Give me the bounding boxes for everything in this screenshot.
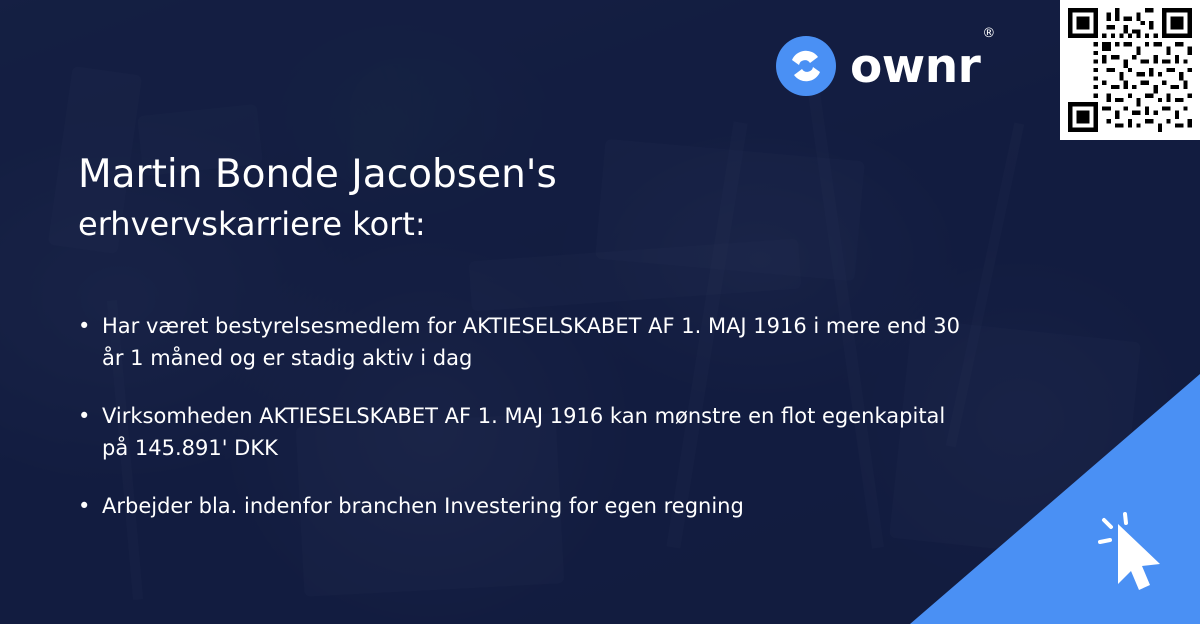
title-line-1: Martin Bonde Jacobsen's bbox=[78, 150, 898, 200]
page-title: Martin Bonde Jacobsen's erhvervskarriere… bbox=[78, 150, 898, 248]
qr-code-icon[interactable] bbox=[1068, 8, 1192, 132]
bullet-text: Har været bestyrelsesmedlem for AKTIESEL… bbox=[102, 310, 978, 374]
click-cursor-icon bbox=[1094, 510, 1170, 596]
bullet-list: • Har været bestyrelsesmedlem for AKTIES… bbox=[78, 310, 978, 548]
promo-card: ownr® bbox=[0, 0, 1200, 624]
circle-swirl-icon bbox=[776, 36, 836, 96]
list-item: • Arbejder bla. indenfor branchen Invest… bbox=[78, 490, 978, 522]
bullet-marker-icon: • bbox=[78, 310, 102, 342]
qr-code-panel[interactable] bbox=[1060, 0, 1200, 140]
bullet-text: Virksomheden AKTIESELSKABET AF 1. MAJ 19… bbox=[102, 400, 978, 464]
bullet-marker-icon: • bbox=[78, 400, 102, 432]
brand-logo: ownr® bbox=[776, 36, 993, 96]
list-item: • Virksomheden AKTIESELSKABET AF 1. MAJ … bbox=[78, 400, 978, 464]
bullet-text: Arbejder bla. indenfor branchen Invester… bbox=[102, 490, 744, 522]
brand-wordmark: ownr® bbox=[850, 43, 993, 90]
brand-name: ownr bbox=[850, 39, 980, 94]
list-item: • Har været bestyrelsesmedlem for AKTIES… bbox=[78, 310, 978, 374]
bullet-marker-icon: • bbox=[78, 490, 102, 522]
title-line-2: erhvervskarriere kort: bbox=[78, 200, 898, 248]
registered-mark: ® bbox=[982, 26, 995, 41]
